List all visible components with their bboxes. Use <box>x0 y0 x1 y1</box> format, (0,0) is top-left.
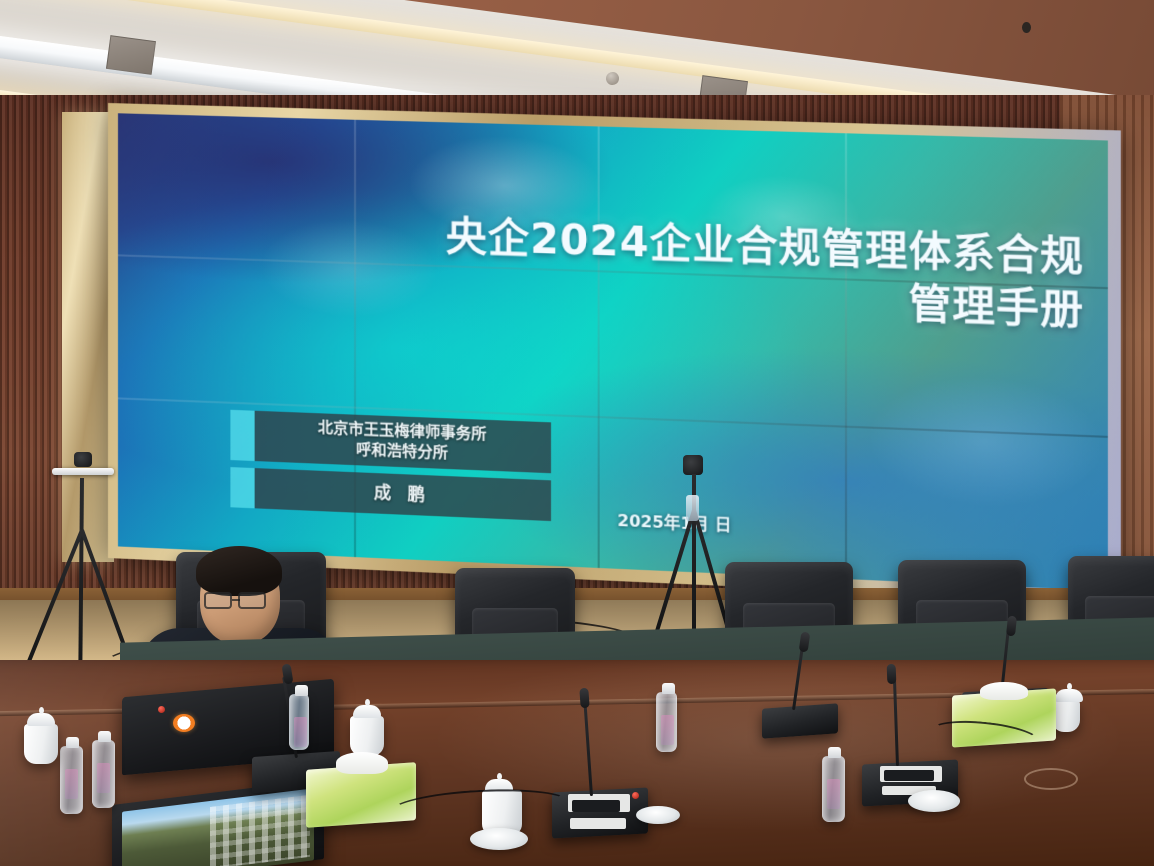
slide-title: 央企2024企业合规管理体系合规 管理手册 <box>160 203 1084 338</box>
tissue-sheet <box>336 752 388 774</box>
accent-square-icon <box>230 467 254 509</box>
video-wall-frame: 央企2024企业合规管理体系合规 管理手册 北京市王玉梅律师事务所 呼和浩特分所… <box>108 103 1121 604</box>
water-bottle[interactable] <box>822 756 845 822</box>
tripod-weight <box>686 495 699 521</box>
video-wall-panel-seams <box>118 113 1108 591</box>
teacup[interactable] <box>1052 700 1080 732</box>
laptop-screen <box>122 788 314 866</box>
glasses-bridge <box>232 599 240 601</box>
camera-icon <box>683 455 703 475</box>
glasses-icon <box>204 592 232 609</box>
mic-indicator-icon <box>158 706 165 713</box>
glasses-icon <box>238 592 266 609</box>
desktop-icons <box>210 795 310 866</box>
video-wall-display[interactable]: 央企2024企业合规管理体系合规 管理手册 北京市王玉梅律师事务所 呼和浩特分所… <box>118 113 1108 591</box>
conference-room-scene: 央企2024企业合规管理体系合规 管理手册 北京市王玉梅律师事务所 呼和浩特分所… <box>0 0 1154 866</box>
teacup[interactable] <box>24 724 58 764</box>
mic-head <box>887 664 897 684</box>
mic-saucer <box>908 790 960 812</box>
light-bar-icon <box>52 468 114 475</box>
water-bottle[interactable] <box>656 692 677 752</box>
mic-saucer <box>636 806 680 824</box>
accent-square-icon <box>230 410 254 461</box>
mic-indicator-icon <box>632 792 639 799</box>
saucer <box>470 828 528 850</box>
table-inlay-ring <box>1024 768 1078 790</box>
mic-head <box>579 688 589 709</box>
slide-org-bar: 北京市王玉梅律师事务所 呼和浩特分所 <box>255 411 551 473</box>
person-hair <box>196 546 282 596</box>
gold-pilaster-left <box>62 112 114 562</box>
water-bottle[interactable] <box>60 746 83 814</box>
slide-subtitle-group: 北京市王玉梅律师事务所 呼和浩特分所 成 鹏 <box>230 410 551 528</box>
screen-glare <box>118 113 1108 591</box>
slide-date: 2025年1月 日 <box>617 507 731 536</box>
circle-logo-icon <box>173 714 195 732</box>
slide-speaker-name: 成 鹏 <box>255 468 551 521</box>
slide-org-row: 北京市王玉梅律师事务所 呼和浩特分所 <box>230 410 551 473</box>
tissue-sheet <box>980 682 1028 700</box>
tripod-head <box>74 452 92 467</box>
slide-speaker-row: 成 鹏 <box>230 467 551 521</box>
teacup[interactable] <box>350 716 384 756</box>
water-bottle[interactable] <box>289 694 309 750</box>
vent-icon <box>106 35 156 75</box>
speaker-icon <box>1022 22 1031 33</box>
water-bottle[interactable] <box>92 740 115 808</box>
